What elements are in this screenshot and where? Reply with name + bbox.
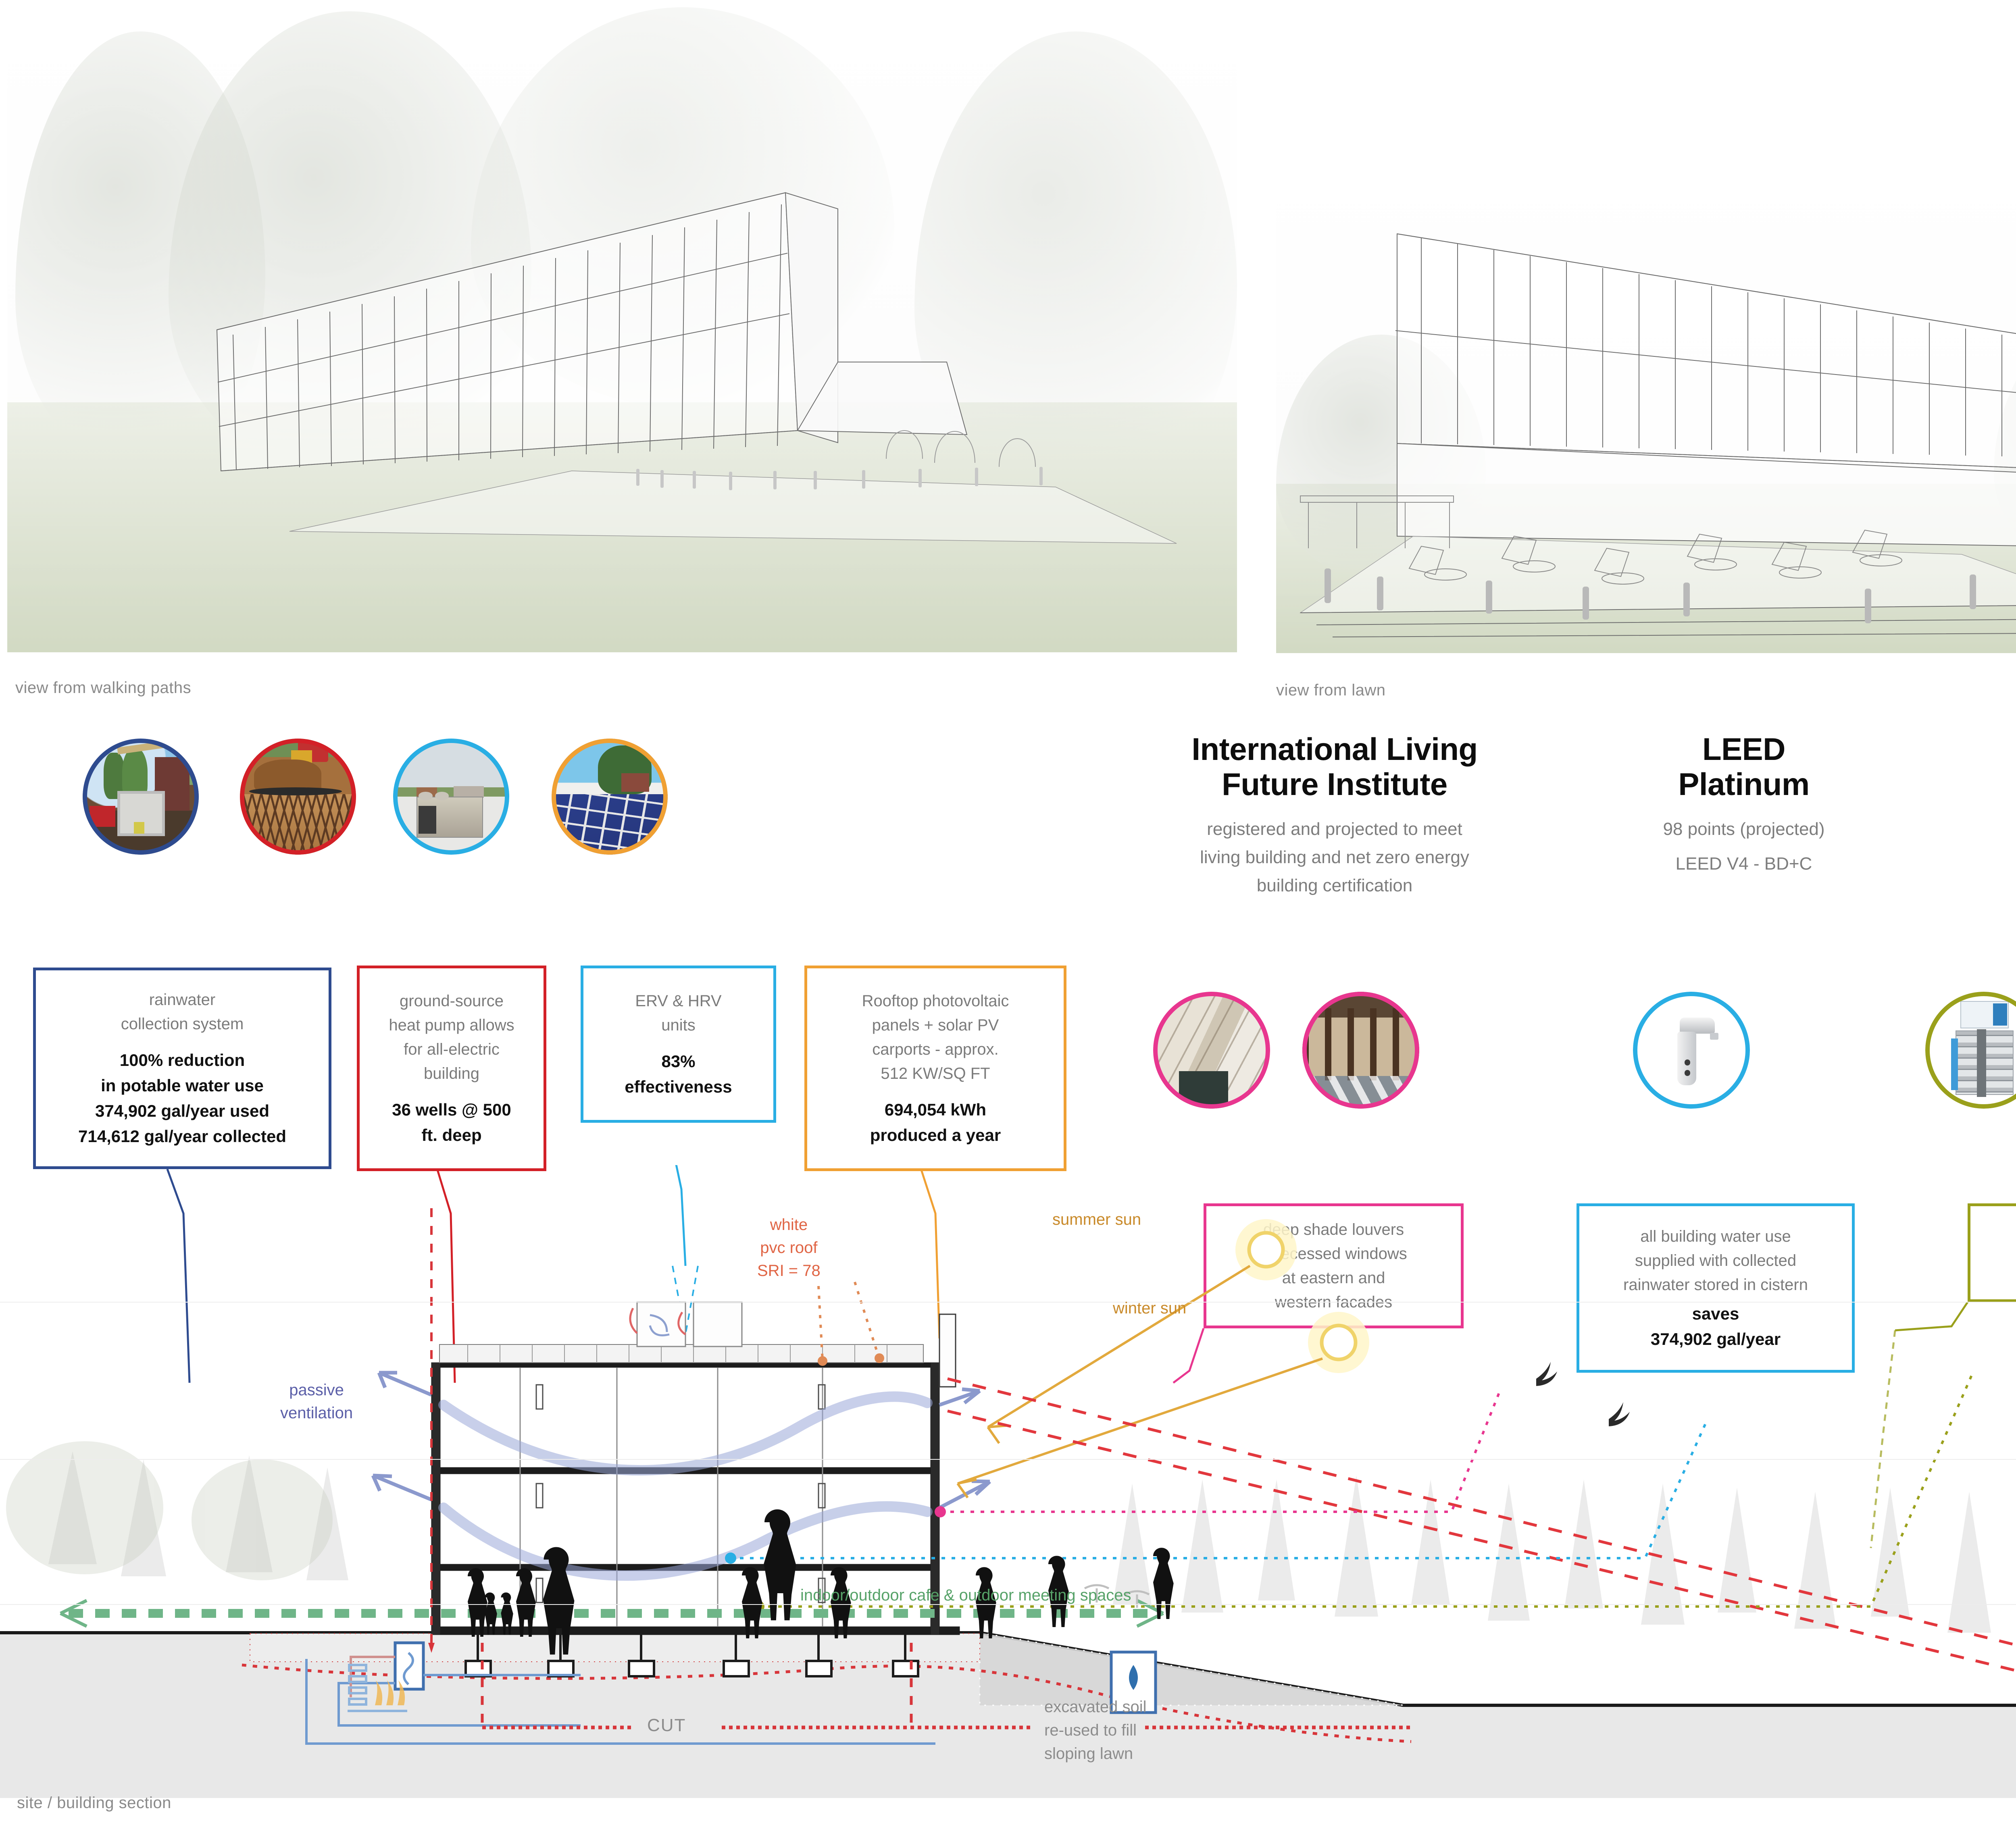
callout-bold-line: 694,054 kWh	[885, 1097, 986, 1122]
headline-title-line: Platinum	[1607, 767, 1881, 802]
callout-light-line: heat pump allows	[389, 1013, 514, 1037]
cafe-meeting-label: indoor/outdoor cafe & outdoor meeting sp…	[800, 1586, 1131, 1605]
headline-sub-line: 98 points (projected)	[1607, 816, 1881, 843]
callout-light-line: collection system	[121, 1012, 244, 1036]
leed-platinum-headline: LEED Platinum 98 points (projected) LEED…	[1607, 732, 1881, 877]
callout-bold-line: 374,902 gal/year used	[95, 1098, 269, 1124]
headline-sub-line: LEED V4 - BD+C	[1607, 851, 1881, 877]
ground-source-heat-pump-callout[interactable]: ground-source heat pump allows for all-e…	[357, 966, 546, 1171]
presentation-board: view from walking paths	[0, 0, 2016, 1848]
callout-light-line: 512 KW/SQ FT	[881, 1061, 990, 1086]
rooftop-photovoltaic-callout[interactable]: Rooftop photovoltaic panels + solar PV c…	[804, 966, 1066, 1171]
recessed-window-interior-photo[interactable]	[1302, 992, 1419, 1109]
excavated-soil-label: excavated soil re-used to fill sloping l…	[1044, 1695, 1146, 1765]
headline-sub-line: top 10% of office	[1939, 816, 2016, 843]
caption-view-from-lawn: view from lawn	[1276, 681, 1386, 699]
sensor-faucet-photo[interactable]	[1633, 992, 1750, 1109]
callout-light-line: building	[424, 1061, 479, 1086]
callout-light-line: panels + solar PV	[872, 1013, 999, 1037]
geothermal-well-drilling-photo[interactable]	[83, 739, 199, 855]
headline-title-line: Certification	[1939, 767, 2016, 802]
headline-title-line: LEED	[1607, 732, 1881, 767]
rooftop-solar-pv-array-photo[interactable]	[552, 739, 668, 855]
headline-title-line: International Living	[1121, 732, 1548, 767]
callout-light-line: carports - approx.	[872, 1037, 998, 1061]
rainwater-collection-callout[interactable]: rainwater collection system 100% reducti…	[33, 968, 331, 1169]
callout-bold-line: 100% reduction	[120, 1047, 245, 1073]
passive-ventilation-label: passive ventilation	[280, 1379, 353, 1425]
cut-label: CUT	[647, 1715, 686, 1736]
callout-bold-line: 83%	[661, 1049, 695, 1074]
winter-sun-label: winter sun	[1113, 1299, 1186, 1317]
callout-bold-line: 36 wells @ 500	[392, 1097, 511, 1122]
headline-title-line: Future Institute	[1121, 767, 1548, 802]
caption-site-building-section: site / building section	[17, 1794, 171, 1812]
callout-bold-line: effectiveness	[625, 1074, 732, 1099]
headline-sub-line: registered and projected to meet	[1121, 816, 1548, 843]
caption-view-from-walking-paths: view from walking paths	[15, 679, 191, 697]
rendering-view-from-walking-paths	[7, 7, 1237, 652]
water-purification-skid-photo[interactable]	[1925, 992, 2016, 1109]
callout-light-line: rainwater	[149, 988, 216, 1012]
building-lawn-linework: Patagonia	[1276, 161, 2016, 653]
callout-light-line: for all-electric	[404, 1037, 500, 1061]
headline-sub-line: living building and net zero energy	[1121, 844, 1548, 871]
rendering-view-from-lawn: Patagonia	[1276, 161, 2016, 653]
international-living-future-institute-headline: International Living Future Institute re…	[1121, 732, 1548, 899]
energy-star-certification-headline: Energy Star Certification top 10% of off…	[1939, 732, 2016, 871]
white-pvc-roof-label: white pvc roof SRI = 78	[757, 1213, 821, 1282]
headline-sub-line: buildings (projected)	[1939, 844, 2016, 871]
callout-light-line: ground-source	[400, 989, 504, 1013]
building-perspective-linework	[7, 7, 1237, 652]
callout-bold-line: in potable water use	[101, 1073, 264, 1098]
geothermal-loop-excavation-photo[interactable]	[240, 739, 356, 855]
callout-light-line: ERV & HRV	[635, 989, 721, 1013]
shade-louver-facade-photo[interactable]	[1153, 992, 1270, 1109]
callout-light-line: Rooftop photovoltaic	[862, 989, 1009, 1013]
callout-bold-line: 714,612 gal/year collected	[78, 1124, 286, 1149]
site-building-section: summer sun winter sun white pvc roof SRI…	[0, 1201, 2016, 1798]
rooftop-erv-hrv-unit-photo[interactable]	[393, 739, 509, 855]
callout-bold-line: produced a year	[870, 1122, 1001, 1148]
callout-light-line: units	[661, 1013, 696, 1037]
callout-bold-line: ft. deep	[421, 1122, 481, 1148]
headline-sub-line: building certification	[1121, 872, 1548, 899]
headline-title-line: Energy Star	[1939, 732, 2016, 767]
summer-sun-label: summer sun	[1052, 1211, 1141, 1229]
erv-hrv-callout[interactable]: ERV & HRV units 83% effectiveness	[581, 966, 776, 1123]
